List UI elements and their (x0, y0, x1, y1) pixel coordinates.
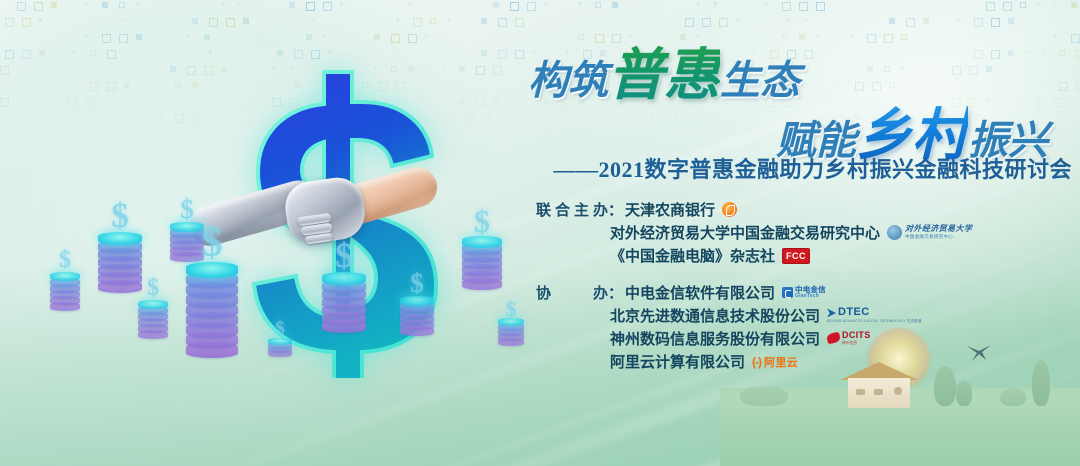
pattern-square (136, 130, 139, 133)
pattern-square (107, 50, 116, 59)
pattern-square (311, 18, 314, 21)
pattern-square (1071, 98, 1074, 101)
pattern-square (85, 2, 88, 5)
dcits-logo: DCITS神州信息 (827, 331, 871, 345)
pattern-square (680, 34, 686, 40)
pattern-square (5, 50, 14, 59)
pattern-square (73, 82, 76, 85)
pattern-square (493, 98, 499, 104)
credit-block: 联合主办：天津农商银行对外经济贸易大学中国金融交易研究中心对外经济贸易大学中国金… (536, 198, 1056, 267)
aliyun-logo: (-)阿里云 (752, 354, 798, 370)
pattern-square (124, 18, 127, 21)
pattern-square (204, 34, 210, 40)
pattern-square (0, 66, 9, 75)
pattern-square (1003, 2, 1012, 11)
pattern-square (277, 50, 283, 56)
pattern-square (124, 82, 130, 88)
pattern-square (765, 2, 768, 5)
pattern-square (986, 2, 995, 11)
pattern-square (884, 34, 893, 43)
credit-row: 联合主办：天津农商银行 (536, 198, 1056, 221)
credit-label: 协办 (536, 282, 608, 303)
pattern-square (39, 18, 42, 21)
pattern-square (68, 98, 77, 107)
coin-layer (498, 318, 524, 326)
pattern-square (1071, 130, 1077, 136)
pattern-square (736, 18, 739, 21)
pattern-square (0, 98, 9, 107)
pattern-square (991, 18, 1000, 27)
coin-layer (268, 338, 292, 345)
pattern-square (408, 34, 417, 43)
coin-layer (462, 236, 502, 248)
pattern-square (22, 18, 31, 27)
credit-block: 协办：中电金信软件有限公司中电金信GianTech北京先进数通信息技术股份公司D… (536, 281, 1056, 373)
pattern-square (408, 2, 411, 5)
pattern-square (1071, 66, 1074, 69)
pattern-square (493, 2, 499, 8)
coin-layer (186, 262, 238, 278)
pattern-square (544, 2, 547, 5)
pattern-square (578, 2, 581, 5)
pattern-square (158, 114, 164, 120)
pattern-square (578, 34, 584, 40)
pattern-square (238, 2, 241, 5)
pattern-square (209, 50, 212, 53)
pattern-square (170, 66, 176, 72)
pattern-square (73, 50, 76, 53)
pattern-square (1037, 2, 1040, 5)
pattern-square (782, 34, 785, 37)
pattern-square (209, 18, 218, 27)
pattern-square (102, 34, 111, 43)
pattern-square (136, 2, 139, 5)
pattern-square (782, 2, 791, 11)
pattern-square (816, 2, 825, 11)
pattern-square (51, 2, 57, 8)
pattern-square (1059, 82, 1068, 91)
dollar-symbol-icon: $ (138, 275, 168, 302)
pattern-square (153, 130, 159, 136)
coin-layer (50, 272, 80, 281)
pattern-square (413, 18, 422, 27)
uibe-logo: 对外经济贸易大学中国金融交易研究中心 (887, 225, 972, 240)
pattern-square (719, 18, 728, 27)
coin-layer (138, 300, 168, 309)
pattern-square (1054, 34, 1057, 37)
pattern-square (85, 130, 94, 139)
pattern-square (850, 34, 853, 37)
pattern-square (5, 18, 14, 27)
pattern-square (119, 2, 125, 8)
pattern-square (816, 34, 819, 37)
pattern-square (323, 2, 332, 11)
pattern-square (702, 18, 711, 27)
dollar-symbol-icon: $ (50, 247, 80, 274)
credit-row: 对外经济贸易大学中国金融交易研究中心对外经济贸易大学中国金融交易研究中心 (536, 221, 1056, 244)
pattern-square (85, 98, 94, 107)
pattern-square (34, 2, 43, 11)
pattern-square (391, 34, 400, 43)
credit-organization: 对外经济贸易大学中国金融交易研究中心 (610, 222, 880, 243)
tree-icon (740, 386, 788, 406)
pattern-square (595, 2, 601, 8)
credit-organization: 北京先进数通信息技术股份公司 (610, 305, 820, 326)
pattern-square (187, 34, 190, 37)
pattern-square (629, 34, 632, 37)
pattern-square (158, 82, 161, 85)
pattern-square (90, 50, 96, 56)
pattern-square (974, 18, 983, 27)
pattern-square (697, 2, 700, 5)
pattern-square (102, 130, 105, 133)
pattern-square (481, 114, 490, 123)
pattern-square (192, 18, 198, 24)
credit-row: 神州数码信息服务股份有限公司DCITS神州信息 (536, 327, 1056, 350)
pattern-square (85, 34, 88, 37)
pattern-square (51, 130, 54, 133)
pattern-square (1076, 82, 1080, 91)
credit-row: 《中国金融电脑》杂志社FCC (536, 244, 1056, 267)
pattern-square (889, 18, 895, 24)
pattern-square (957, 18, 960, 21)
credit-organization: 《中国金融电脑》杂志社 (610, 245, 775, 266)
pattern-square (697, 34, 700, 37)
tree-icon (1000, 388, 1026, 406)
pattern-square (119, 34, 128, 43)
pattern-square (1071, 2, 1077, 8)
dtec-logo: DTECBEIJING ADVANCED DIGITAL TECHNOLOGY … (827, 307, 921, 323)
pattern-square (799, 34, 805, 40)
credit-colon: ： (608, 282, 623, 303)
conference-banner: $$$$$$$$$$ 构筑普惠生态 赋能乡村振兴 ——2021数字普惠金融助力乡… (0, 0, 1080, 466)
headline-segment: 普惠 (608, 45, 720, 107)
pattern-square (527, 2, 536, 11)
pattern-square (867, 34, 876, 43)
pattern-square (612, 34, 621, 43)
credits-section: 联合主办：天津农商银行对外经济贸易大学中国金融交易研究中心对外经济贸易大学中国金… (536, 198, 1056, 387)
pattern-square (396, 18, 399, 21)
pattern-square (107, 82, 116, 91)
credit-row: 协办：中电金信软件有限公司中电金信GianTech (536, 281, 1056, 304)
dollar-symbol-icon: $ (98, 196, 142, 236)
pattern-square (498, 50, 507, 59)
pattern-square (493, 66, 502, 75)
pattern-square (51, 98, 54, 101)
pattern-square (498, 18, 507, 27)
pattern-square (481, 50, 487, 56)
pattern-square (804, 18, 807, 21)
pattern-square (340, 2, 343, 5)
tjrcb-logo (722, 202, 737, 217)
pattern-square (906, 18, 915, 27)
pattern-square (22, 50, 31, 59)
credit-row: 阿里云计算有限公司(-)阿里云 (536, 350, 1056, 373)
pattern-square (17, 98, 20, 101)
pattern-square (425, 34, 428, 37)
pattern-square (306, 34, 312, 40)
credit-organization: 中电金信软件有限公司 (625, 282, 775, 303)
pattern-square (102, 2, 108, 8)
headline-line-1: 构筑普惠生态 (520, 48, 1060, 104)
credit-organization: 神州数码信息服务股份有限公司 (610, 328, 820, 349)
pattern-square (799, 2, 808, 11)
credit-organization: 阿里云计算有限公司 (610, 351, 745, 372)
pattern-square (17, 66, 20, 69)
pattern-square (595, 34, 604, 43)
headline-segment: 构筑 (528, 58, 608, 103)
pattern-square (1008, 18, 1014, 24)
pattern-square (612, 2, 618, 8)
pattern-square (289, 2, 295, 8)
pattern-square (221, 2, 224, 5)
pattern-square (510, 98, 513, 101)
dollar-symbol-icon: $ (400, 268, 434, 299)
credit-organization: 天津农商银行 (625, 199, 715, 220)
pattern-square (685, 18, 694, 27)
pattern-square (39, 50, 45, 56)
pattern-square (1020, 2, 1026, 8)
pattern-square (901, 34, 907, 40)
pattern-square (17, 2, 26, 11)
coin-layer (98, 232, 142, 245)
pattern-square (328, 50, 331, 53)
headline: 构筑普惠生态 赋能乡村振兴 (520, 48, 1060, 164)
dollar-symbol-icon: $ (462, 203, 502, 240)
pattern-square (663, 34, 666, 37)
pattern-square (170, 130, 176, 136)
pattern-square (68, 130, 77, 139)
pattern-square (124, 50, 127, 53)
pattern-square (396, 50, 399, 53)
pattern-square (1054, 2, 1057, 5)
pattern-square (102, 98, 105, 101)
pattern-square (923, 18, 929, 24)
pattern-square (5, 114, 8, 117)
pattern-square (243, 18, 249, 24)
coin-layer (322, 272, 366, 285)
credit-label: 联合主办 (536, 199, 608, 220)
pattern-square (515, 18, 524, 27)
pattern-square (136, 34, 142, 40)
pattern-square (1071, 34, 1080, 43)
headline-segment: 生态 (720, 58, 800, 103)
pattern-square (374, 34, 380, 40)
giantech-logo: 中电金信GianTech (782, 286, 826, 300)
pattern-square (430, 18, 436, 24)
pattern-square (714, 2, 717, 5)
dollar-symbol-icon: $ (268, 318, 292, 340)
credit-colon: ： (608, 199, 623, 220)
pattern-square (481, 18, 487, 24)
pattern-square (510, 2, 519, 11)
fcc-logo: FCC (782, 248, 810, 264)
dollar-symbol-icon: $ (322, 236, 366, 276)
subtitle: ——2021数字普惠金融助力乡村振兴金融科技研讨会 (520, 152, 1072, 184)
pattern-square (787, 18, 790, 21)
pattern-square (226, 18, 235, 27)
pattern-square (102, 66, 105, 69)
coin-layer (400, 296, 434, 306)
pattern-square (1076, 50, 1080, 59)
pattern-square (447, 18, 450, 21)
dollar-symbol-icon: $ (186, 219, 238, 267)
pattern-square (306, 2, 315, 11)
pattern-square (90, 82, 99, 91)
credit-row: 北京先进数通信息技术股份公司DTECBEIJING ADVANCED DIGIT… (536, 304, 1056, 327)
pattern-square (323, 34, 326, 37)
